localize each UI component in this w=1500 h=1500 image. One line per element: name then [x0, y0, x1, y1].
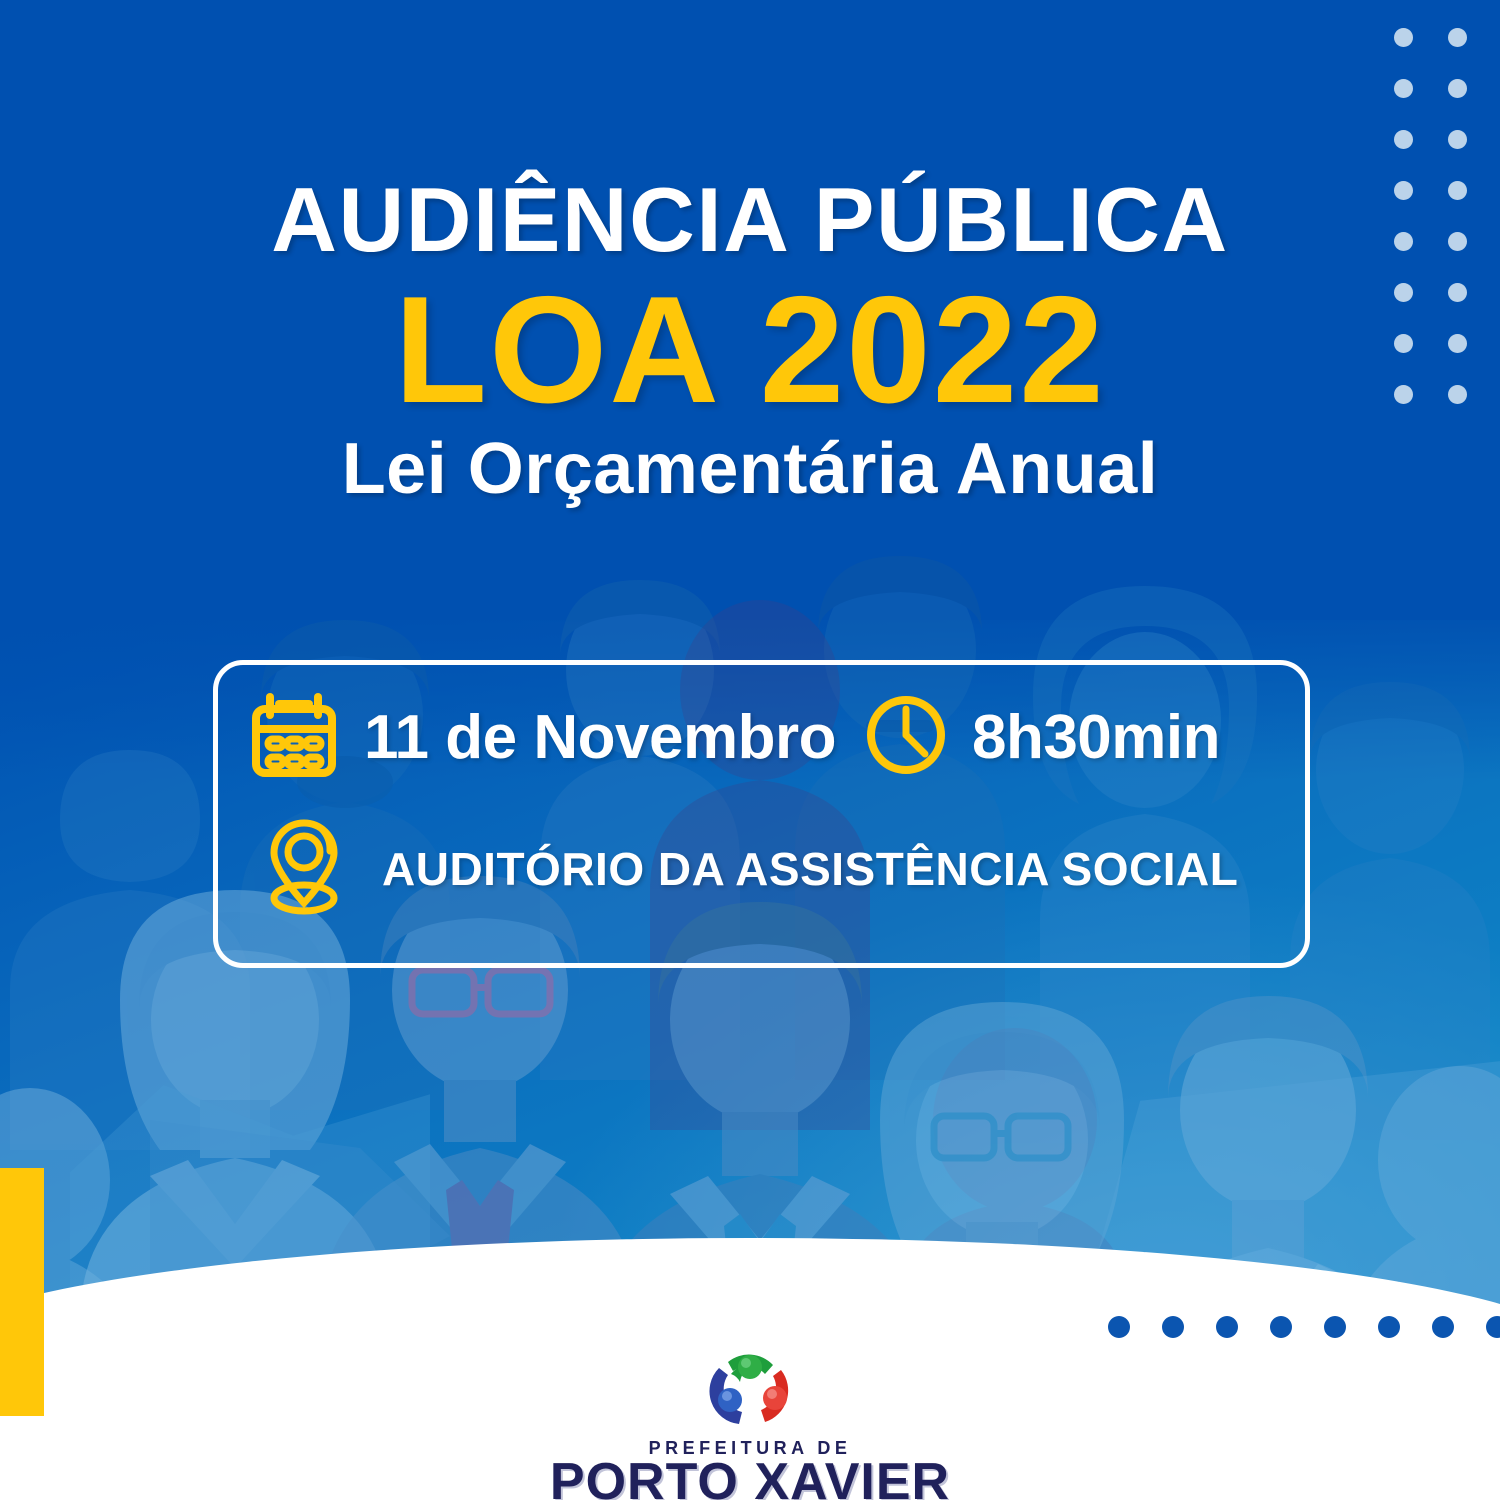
logo-city-name: PORTO XAVIER — [0, 1457, 1500, 1500]
decor-dot — [1448, 79, 1467, 98]
event-date-text: 11 de Novembro — [364, 702, 836, 773]
event-time-text: 8h30min — [972, 702, 1220, 773]
event-location-text: AUDITÓRIO DA ASSISTÊNCIA SOCIAL — [382, 842, 1238, 896]
headline-line-3: Lei Orçamentária Anual — [0, 433, 1500, 505]
dot-row-decoration — [1108, 1316, 1500, 1340]
event-date-time-row: 11 de Novembro 8h30min — [246, 687, 1220, 788]
headline-line-1: AUDIÊNCIA PÚBLICA — [0, 175, 1500, 266]
decor-dot — [1270, 1316, 1292, 1338]
decor-dot — [1216, 1316, 1238, 1338]
event-location-row: AUDITÓRIO DA ASSISTÊNCIA SOCIAL — [258, 815, 1238, 922]
location-pin-icon — [258, 815, 350, 922]
decor-dot — [1108, 1316, 1130, 1338]
decor-dot — [1378, 1316, 1400, 1338]
decor-dot — [1394, 79, 1413, 98]
decor-dot — [1324, 1316, 1346, 1338]
calendar-icon — [246, 687, 342, 788]
decor-dot — [1394, 28, 1413, 47]
porto-xavier-emblem-icon — [0, 1352, 1500, 1436]
decor-dot — [1394, 130, 1413, 149]
decor-dot — [1486, 1316, 1500, 1338]
decor-dot — [1448, 28, 1467, 47]
decor-dot — [1162, 1316, 1184, 1338]
event-info-box: 11 de Novembro 8h30min — [213, 660, 1310, 968]
poster-canvas: AUDIÊNCIA PÚBLICA LOA 2022 Lei Orçamentá… — [0, 0, 1500, 1500]
decor-dot — [1432, 1316, 1454, 1338]
decor-dot — [1448, 130, 1467, 149]
headline-line-2: LOA 2022 — [0, 276, 1500, 425]
clock-icon — [862, 691, 950, 784]
headline-block: AUDIÊNCIA PÚBLICA LOA 2022 Lei Orçamentá… — [0, 175, 1500, 505]
city-hall-logo: PREFEITURA DE PORTO XAVIER GOVERNO E VOC… — [0, 1352, 1500, 1500]
